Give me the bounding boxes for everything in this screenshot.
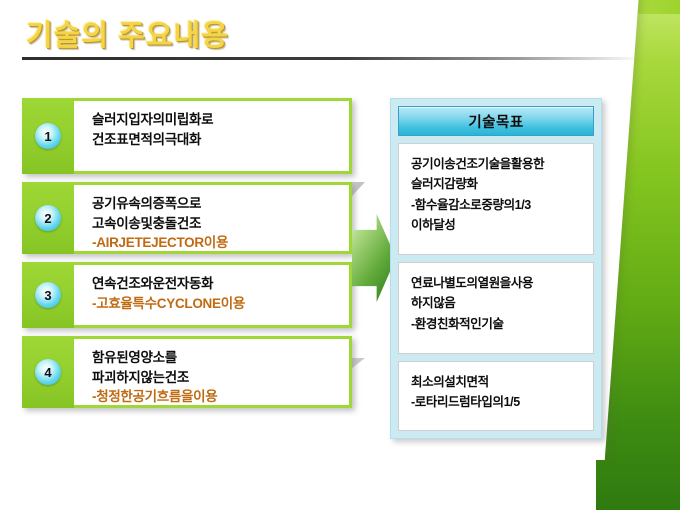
step-line: 파괴하지않는건조 (92, 368, 339, 388)
goal-line: 연료나별도의열원을사용 (411, 273, 585, 293)
step-body-3: 연속건조와운전자동화 -고효율특수CYCLONE이용 (74, 262, 352, 328)
step-tab-3: 3 (22, 262, 74, 328)
goal-header: 기술목표 (398, 106, 594, 136)
step-number-badge: 4 (35, 359, 61, 385)
step-line: 공기유속의증폭으로 (92, 194, 339, 214)
page-title: 기술의 주요내용 (26, 12, 229, 54)
step-line: 슬러지입자의미립화로 (92, 110, 339, 130)
step-item-3: 3 연속건조와운전자동화 -고효율특수CYCLONE이용 (22, 262, 352, 328)
step-number-badge: 2 (35, 205, 61, 231)
goal-box-1: 공기이송건조기술을활용한 슬러지감량화 -함수율감소로중량의1/3 이하달성 (398, 143, 594, 255)
goal-line: -함수율감소로중량의1/3 (411, 195, 585, 215)
step-body-4: 함유된영양소를 파괴하지않는건조 -청정한공기흐름을이용 (74, 336, 352, 408)
presentation-slide: 기술의 주요내용 1 슬러지입자의미립화로 건조표면적의극대화 2 공기유속의증… (0, 0, 680, 510)
goal-line: 하지않음 (411, 293, 585, 313)
step-item-2: 2 공기유속의증폭으로 고속이송및충돌건조 -AIRJETEJECTOR이용 (22, 182, 352, 254)
step-line-accent: -고효율특수CYCLONE이용 (92, 294, 339, 314)
step-line-accent: -AIRJETEJECTOR이용 (92, 233, 339, 253)
goal-box-3: 최소의설치면적 -로타리드럼타입의1/5 (398, 361, 594, 431)
step-line: 연속건조와운전자동화 (92, 274, 339, 294)
step-line: 고속이송및충돌건조 (92, 214, 339, 234)
goal-box-2: 연료나별도의열원을사용 하지않음 -환경친화적인기술 (398, 262, 594, 354)
step-item-1: 1 슬러지입자의미립화로 건조표면적의극대화 (22, 98, 352, 174)
step-body-2: 공기유속의증폭으로 고속이송및충돌건조 -AIRJETEJECTOR이용 (74, 182, 352, 254)
step-line: 건조표면적의극대화 (92, 130, 339, 150)
goal-line: -로타리드럼타입의1/5 (411, 392, 585, 412)
goal-line: 최소의설치면적 (411, 372, 585, 392)
step-number-badge: 1 (35, 123, 61, 149)
step-tab-2: 2 (22, 182, 74, 254)
goal-line: 이하달성 (411, 215, 585, 235)
title-divider (22, 57, 642, 60)
step-line-accent: -청정한공기흐름을이용 (92, 387, 339, 407)
left-column: 1 슬러지입자의미립화로 건조표면적의극대화 2 공기유속의증폭으로 고속이송및… (22, 98, 352, 416)
step-tab-4: 4 (22, 336, 74, 408)
step-line: 함유된영양소를 (92, 348, 339, 368)
goal-line: 공기이송건조기술을활용한 (411, 154, 585, 174)
step-item-4: 4 함유된영양소를 파괴하지않는건조 -청정한공기흐름을이용 (22, 336, 352, 408)
step-tab-1: 1 (22, 98, 74, 174)
step-body-1: 슬러지입자의미립화로 건조표면적의극대화 (74, 98, 352, 174)
goal-line: -환경친화적인기술 (411, 314, 585, 334)
step-number-badge: 3 (35, 282, 61, 308)
goal-line: 슬러지감량화 (411, 174, 585, 194)
goal-header-label: 기술목표 (468, 111, 523, 132)
right-column: 기술목표 공기이송건조기술을활용한 슬러지감량화 -함수율감소로중량의1/3 이… (390, 98, 602, 439)
